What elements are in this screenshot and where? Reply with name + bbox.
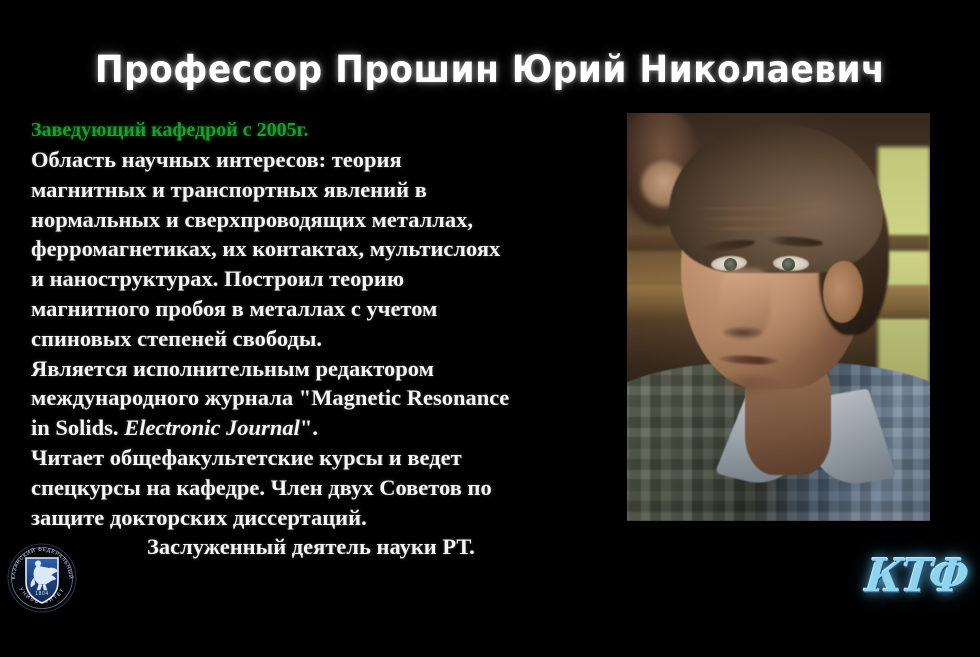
biography-line: спиновых степеней свободы. xyxy=(31,324,617,354)
biography-line: и наноструктурах. Построил теорию xyxy=(31,264,617,294)
presentation-slide: Профессор Прошин Юрий Николаевич Заведую… xyxy=(0,0,980,657)
forehead-line xyxy=(703,227,813,230)
hair xyxy=(669,123,883,273)
biography-line: магнитных и транспортных явлений в xyxy=(31,175,617,205)
biography-line: защите докторских диссертаций. xyxy=(31,503,617,533)
forehead-line xyxy=(697,217,821,220)
ktf-logo: КТФ xyxy=(864,547,968,605)
biography-lines: Область научных интересов: теориямагнитн… xyxy=(31,145,617,562)
biography-line: нормальных и сверхпроводящих металлах, xyxy=(31,205,617,235)
biography-line: Заслуженный деятель науки РТ. xyxy=(31,532,617,562)
kfu-logo: КАЗАНСКИЙ ФЕДЕРАЛЬНЫЙ УНИВЕРСИТЕТ 1804 xyxy=(6,542,78,614)
ktf-logo-text: КТФ xyxy=(863,549,969,603)
nostril xyxy=(723,327,763,338)
biography-line: in Solids. Electronic Journal". xyxy=(31,413,617,443)
iris-right xyxy=(782,258,795,271)
photo-subject xyxy=(627,113,930,521)
biography-line: ферромагнетиках, их контактах, мультисло… xyxy=(31,234,617,264)
journal-title-italic: Electronic Journal xyxy=(124,415,300,440)
biography-line: Является исполнительным редактором xyxy=(31,354,617,384)
lead-heading: Заведующий кафедрой с 2005г. xyxy=(31,118,617,143)
portrait-photo xyxy=(627,113,930,521)
chin-shadow xyxy=(711,375,787,397)
biography-line: магнитного пробоя в металлах с учетом xyxy=(31,294,617,324)
photo-background xyxy=(627,113,930,521)
svg-text:1804: 1804 xyxy=(35,591,49,597)
biography-line: Область научных интересов: теория xyxy=(31,145,617,175)
biography-text-block: Заведующий кафедрой с 2005г. Область нау… xyxy=(31,118,617,562)
biography-line: Читает общефакультетские курсы и ведет xyxy=(31,443,617,473)
biography-line: международного журнала "Magnetic Resonan… xyxy=(31,383,617,413)
forehead-line xyxy=(693,207,829,210)
biography-line: спецкурсы на кафедре. Член двух Советов … xyxy=(31,473,617,503)
page-title: Профессор Прошин Юрий Николаевич xyxy=(34,48,945,91)
